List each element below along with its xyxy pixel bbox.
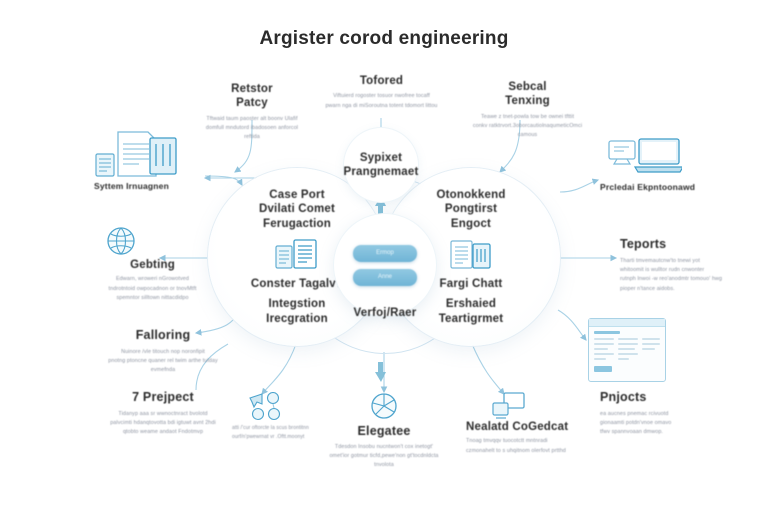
- core-button-primary[interactable]: Ermop: [353, 245, 417, 262]
- callout-bottom-center-body: Tdesdon Insobu nucntwon't cox inetogt' o…: [318, 443, 450, 471]
- callout-left-lower-body: Nuinore /vle titouch nop noronfipit pnot…: [84, 348, 242, 376]
- callout-left-mid-body: Edwarn, wroweri nGrowotved tndrotntoid o…: [80, 275, 225, 303]
- callout-left-upper[interactable]: Syttem Irnuagnen: [94, 181, 234, 192]
- callout-right-upper-label: Prcledai Ekpntoonawd: [600, 182, 760, 193]
- callout-left-mid-heading: Gebting: [80, 258, 225, 272]
- callout-left-lower[interactable]: Falloring Nuinore /vle titouch nop noron…: [84, 328, 242, 376]
- callout-bottom-center[interactable]: Elegatee Tdesdon Insobu nucntwon't cox i…: [318, 424, 450, 471]
- callout-bottom-device[interactable]: Nealatd CoGedcat Tnoag tmvqqv tuocotctt …: [466, 420, 601, 456]
- window-titlebar: [589, 319, 665, 327]
- callout-top-center[interactable]: Tofored Viftuierd rogoster tosuor nwofre…: [299, 74, 464, 111]
- right-ring-footer: Ershaied Teartigrmet: [439, 297, 504, 326]
- callout-right-mid[interactable]: Teports Tharti tmvemautcnw'to tnewi yot …: [620, 237, 768, 294]
- window-body: [589, 327, 665, 376]
- callout-top-left-body: Tftwaid taum paoster alt boonv Ulafif do…: [177, 115, 327, 143]
- callout-right-upper[interactable]: Prcledai Ekpntoonawd: [600, 182, 760, 193]
- left-ring-middle-label: Conster Tagalv?: [251, 277, 343, 291]
- callout-bottom-left[interactable]: 7 Prejpect Tidanyp aaa sr wwnoctnract bv…: [84, 390, 242, 438]
- screen-device-icon: [492, 392, 526, 420]
- callout-bottom-left-body: Tidanyp aaa sr wwnoctnract bvolotd palvc…: [84, 410, 242, 438]
- pie-chart-icon: [370, 392, 398, 420]
- documents-icon: [274, 237, 320, 271]
- top-node-label: Sypixet Prangnemaet: [343, 151, 418, 180]
- window-cta-button[interactable]: [594, 366, 612, 372]
- callout-bottom-right[interactable]: Pnjocts ea aucnes pnemac rcivuotd gionaa…: [600, 390, 765, 438]
- page-title: Argister corod engineering: [0, 28, 768, 50]
- callout-left-mid[interactable]: Gebting Edwarn, wroweri nGrowotved tndro…: [80, 258, 225, 303]
- callout-bottom-left-heading: 7 Prejpect: [84, 390, 242, 406]
- callout-right-mid-body: Tharti tmvemautcnw'to tnewi yot whitoomi…: [620, 257, 768, 294]
- callout-left-upper-label: Syttem Irnuagnen: [94, 181, 234, 192]
- right-ring-middle-label: Fargi Chatt: [440, 277, 503, 291]
- callout-bottom-device-heading: Nealatd CoGedcat: [466, 420, 601, 434]
- callout-top-center-body: Viftuierd rogoster tosuor nwofree tocaff…: [299, 92, 464, 111]
- callout-left-lower-heading: Falloring: [84, 328, 242, 344]
- callout-top-right-body: Teawe z tnet-powla tow be ownei tfttit c…: [445, 113, 610, 141]
- callout-bottom-right-heading: Pnjocts: [600, 390, 765, 406]
- diagram-canvas: Argister corod engineering: [0, 0, 768, 512]
- left-ring-heading: Case Port Dvilati Comet Ferugaction: [259, 188, 335, 231]
- callout-bottom-device-body: Tnoag tmvqqv tuocotctt mntnradi czmonahe…: [466, 437, 601, 456]
- core-circle[interactable]: Ermop Anne: [334, 214, 436, 316]
- documents-stack-icon: [94, 128, 180, 180]
- callout-top-right[interactable]: Sebcal Tenxing Teawe z tnet-powla tow be…: [445, 80, 610, 141]
- browser-window-mockup[interactable]: [588, 318, 666, 382]
- core-button-secondary[interactable]: Anne: [353, 269, 417, 286]
- callout-top-center-heading: Tofored: [299, 74, 464, 88]
- callout-top-right-heading: Sebcal Tenxing: [445, 80, 610, 109]
- documents-icon: [448, 237, 494, 271]
- callout-right-mid-heading: Teports: [620, 237, 768, 253]
- callout-bottom-right-body: ea aucnes pnemac rcivuotd gionaamti potd…: [600, 410, 765, 438]
- left-ring-footer: Integstion Irecgration: [266, 297, 328, 326]
- globe-network-icon: [106, 226, 136, 256]
- social-bubbles-icon: [248, 392, 292, 422]
- monitor-devices-icon: [608, 138, 682, 180]
- top-node-circle[interactable]: Sypixet Prangnemaet: [344, 128, 418, 202]
- callout-bottom-center-heading: Elegatee: [318, 424, 450, 440]
- core-label: Verfoj/Raer: [334, 306, 436, 320]
- right-ring-heading: Otonokkend Pongtirst Engoct: [436, 188, 505, 231]
